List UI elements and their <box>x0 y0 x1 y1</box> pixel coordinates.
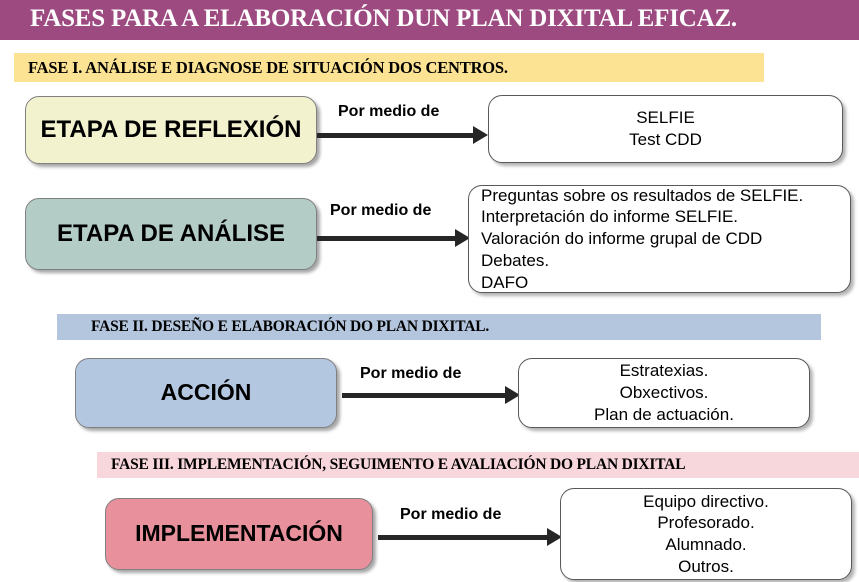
result-box-text: Estratexias. Obxectivos. Plan de actuaci… <box>519 360 809 425</box>
stage-node-label: ETAPA DE ANÁLISE <box>57 221 285 247</box>
connector-arrow-accion <box>342 385 522 405</box>
arrow-head-icon <box>473 126 488 144</box>
connector-arrow-implementacion <box>378 527 564 547</box>
connector-label-reflexion: Por medio de <box>338 103 439 121</box>
connector-arrow-analise <box>317 228 472 248</box>
connector-label-accion: Por medio de <box>360 365 461 383</box>
stage-node-etapa-de-reflexion[interactable]: ETAPA DE REFLEXIÓN <box>25 96 317 164</box>
stage-node-implementacion[interactable]: IMPLEMENTACIÓN <box>105 498 373 570</box>
result-box-implementacion[interactable]: Equipo directivo. Profesorado. Alumnado.… <box>560 488 852 580</box>
stage-node-label: IMPLEMENTACIÓN <box>135 521 343 546</box>
page-title: FASES PARA A ELABORACIÓN DUN PLAN DIXITA… <box>30 5 737 33</box>
result-box-analise[interactable]: Preguntas sobre os resultados de SELFIE.… <box>468 185 851 293</box>
result-box-accion[interactable]: Estratexias. Obxectivos. Plan de actuaci… <box>518 358 810 428</box>
result-box-text: SELFIE Test CDD <box>489 107 842 151</box>
stage-node-accion[interactable]: ACCIÓN <box>75 358 337 428</box>
phase-banner-fase-2: FASE II. DESEÑO E ELABORACIÓN DO PLAN DI… <box>57 314 821 340</box>
arrow-line <box>378 535 549 540</box>
arrow-line <box>317 236 457 241</box>
phase-banner-fase-3: FASE III. IMPLEMENTACIÓN, SEGUIMENTO E A… <box>97 452 859 478</box>
stage-node-etapa-de-analise[interactable]: ETAPA DE ANÁLISE <box>25 198 317 270</box>
result-box-reflexion[interactable]: SELFIE Test CDD <box>488 95 843 163</box>
stage-node-label: ACCIÓN <box>161 380 252 405</box>
title-bar: FASES PARA A ELABORACIÓN DUN PLAN DIXITA… <box>0 0 859 40</box>
result-box-text: Preguntas sobre os resultados de SELFIE.… <box>469 185 850 294</box>
connector-arrow-reflexion <box>317 125 490 145</box>
connector-label-implementacion: Por medio de <box>400 506 501 524</box>
connector-label-analise: Por medio de <box>330 202 431 220</box>
stage-node-label: ETAPA DE REFLEXIÓN <box>41 117 302 143</box>
result-box-text: Equipo directivo. Profesorado. Alumnado.… <box>561 491 851 578</box>
arrow-line <box>317 133 475 138</box>
arrow-line <box>342 393 507 398</box>
phase-banner-fase-1: FASE I. ANÁLISE E DIAGNOSE DE SITUACIÓN … <box>14 53 764 82</box>
